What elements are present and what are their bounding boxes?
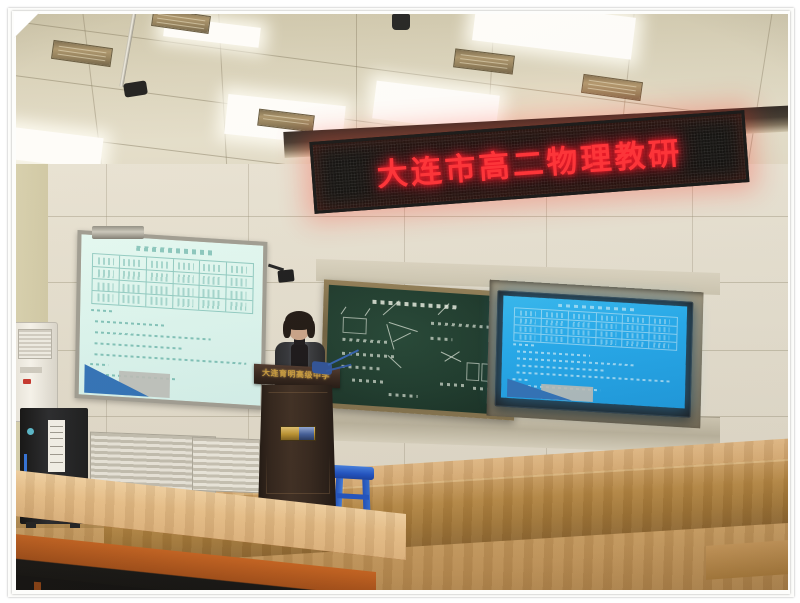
slide-title-text (136, 246, 212, 256)
foreground-desk (16, 514, 406, 590)
projection-screen-surface (79, 234, 264, 405)
cabinet-paper-label (48, 420, 65, 472)
wall-mounted-display (495, 290, 694, 418)
wall-speaker (277, 269, 294, 283)
slide-table (513, 307, 678, 350)
photograph: 大连市高二物理教研 (16, 14, 788, 590)
slide-table (91, 253, 254, 315)
cabinet-indicator-light (27, 428, 34, 435)
ceiling-projector-icon (392, 14, 410, 30)
projection-screen (75, 230, 268, 410)
photo-frame: 大连市高二物理教研 (0, 0, 800, 603)
school-emblem (280, 426, 316, 441)
ac-label (20, 367, 42, 373)
slide-content-tv (501, 296, 687, 409)
presenter-hair-side (307, 320, 315, 338)
stage-step (706, 538, 788, 580)
air-conditioner-unit (16, 322, 58, 422)
projection-screen-roller (92, 226, 144, 239)
slide-content-left (79, 234, 264, 405)
ac-indicator-light (23, 379, 31, 384)
wall-vent-grille (192, 437, 260, 494)
presenter-hair-side (283, 320, 291, 338)
ac-grille (18, 329, 52, 359)
lectern-front-panel (266, 392, 330, 494)
display-screen (501, 296, 687, 409)
desk-leg (34, 582, 41, 590)
